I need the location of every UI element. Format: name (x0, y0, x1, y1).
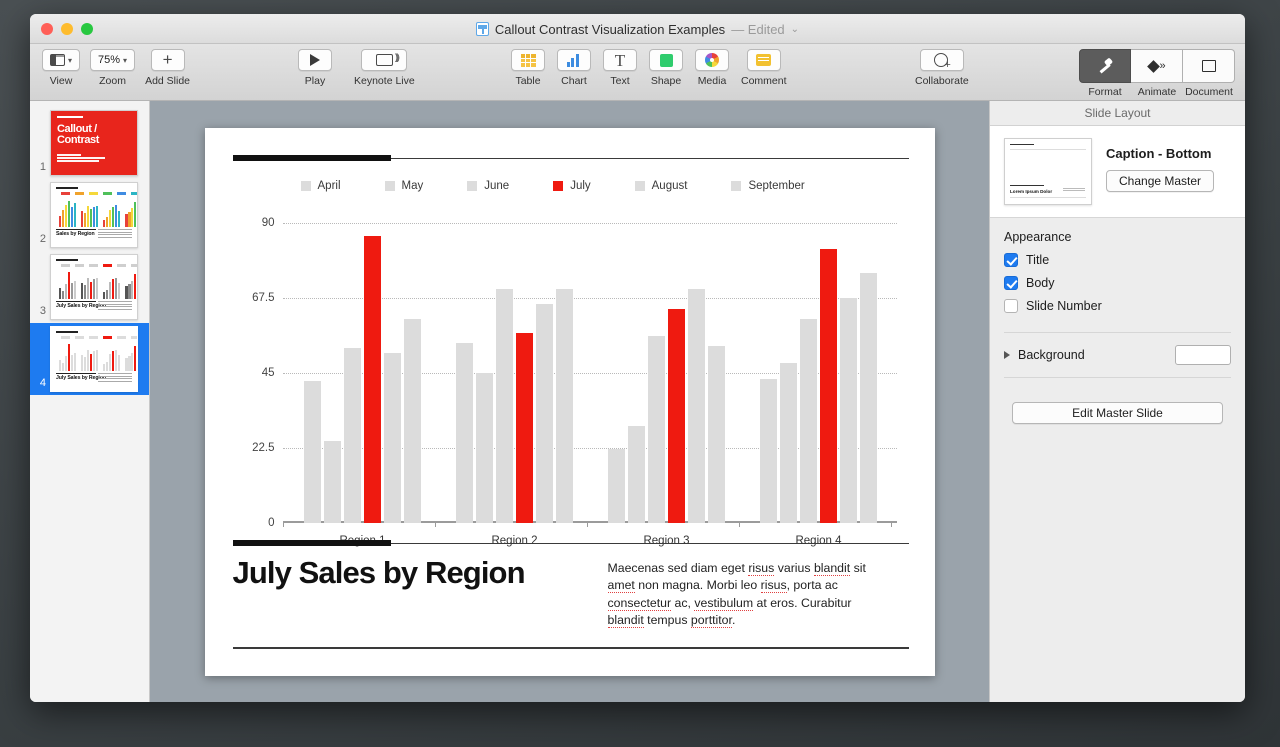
keynote-live-icon (376, 54, 393, 66)
slide-thumbnail-4[interactable]: 4 July Sales by Region (30, 323, 149, 395)
slide-thumbnail-2[interactable]: 2 Sales by Region (30, 179, 149, 251)
thumb-plot-3 (59, 271, 132, 299)
spellcheck-word: porttitor (691, 613, 732, 628)
edit-master-wrap: Edit Master Slide (1012, 402, 1223, 424)
text-icon: T (615, 53, 625, 68)
disclosure-triangle-icon[interactable] (1004, 351, 1010, 359)
tab-label-format: Format (1079, 86, 1131, 98)
toolbar-label-media: Media (698, 75, 727, 87)
chevron-down-icon[interactable]: ⌄ (791, 24, 799, 35)
document-icon (1202, 60, 1216, 72)
thumbnail-canvas-4: July Sales by Region (50, 326, 138, 392)
toolbar-label-play: Play (305, 75, 325, 87)
legend-swatch (731, 181, 741, 191)
desktop-background: Callout Contrast Visualization Examples … (0, 0, 1280, 747)
chart-region-group (591, 223, 743, 523)
x-tick-label: Region 3 (643, 535, 689, 547)
thumb-body-4 (98, 373, 132, 383)
appearance-heading: Appearance (1004, 230, 1231, 244)
chart-bar[interactable] (688, 289, 705, 522)
checkbox-row-body[interactable]: Body (1004, 276, 1231, 290)
master-slide-name: Caption - Bottom (1106, 146, 1214, 161)
master-thumb-rule (1010, 144, 1034, 145)
chart-bar[interactable] (820, 249, 837, 522)
slide-body-text[interactable]: Maecenas sed diam eget risus varius blan… (608, 560, 870, 630)
zoom-button[interactable]: 75% ▾ (90, 49, 135, 71)
master-thumb-baseline (1010, 197, 1086, 198)
axis-tick (739, 523, 740, 527)
shape-button[interactable] (649, 49, 683, 71)
chart-bar[interactable] (628, 426, 645, 523)
master-thumb-bottom-rule (1010, 185, 1044, 186)
toolbar-label-table: Table (515, 75, 540, 87)
legend-swatch (385, 181, 395, 191)
y-tick-label: 90 (237, 217, 275, 229)
axis-tick (283, 523, 284, 527)
background-color-well[interactable] (1175, 345, 1231, 365)
legend-swatch (635, 181, 645, 191)
thumb-rule (56, 187, 78, 189)
thumb-title-1: Callout /Contrast (57, 124, 99, 146)
chart-plot-area (287, 223, 895, 523)
chart-icon (567, 54, 582, 67)
master-thumb-line (1010, 149, 1086, 150)
chart-bar[interactable] (668, 309, 685, 522)
table-button[interactable] (511, 49, 545, 71)
spellcheck-word: amet (608, 578, 635, 593)
toolbar-item-keynote-live[interactable]: Keynote Live (354, 49, 415, 87)
y-tick-label: 67.5 (237, 292, 275, 304)
chart-bar[interactable] (344, 348, 361, 523)
master-slide-section: Lorem Ipsum Dolor Caption - Bottom Chang… (990, 126, 1245, 218)
legend-item-april[interactable]: April (301, 180, 341, 192)
body-text-run: Maecenas sed diam eget (608, 561, 749, 575)
play-icon (310, 54, 320, 66)
thumb-baseline (56, 301, 96, 302)
axis-tick (587, 523, 588, 527)
format-inspector: Slide Layout Lorem Ipsum Dolor Caption -… (989, 101, 1245, 702)
tab-animate[interactable]: » (1131, 49, 1183, 83)
comment-button[interactable] (747, 49, 781, 71)
toolbar-label-collaborate: Collaborate (915, 75, 969, 87)
appearance-section: Appearance Title Body Slide Number (990, 218, 1245, 326)
spellcheck-word: blandit (814, 561, 850, 576)
toolbar-play-group: Play Keynote Live (298, 49, 415, 87)
thumb-plot-2 (59, 199, 132, 227)
divider (1004, 377, 1231, 378)
toolbar-item-shape[interactable]: Shape (649, 49, 683, 87)
spellcheck-word: risus (748, 561, 774, 576)
thumb-legend-3 (61, 264, 138, 267)
toolbar-label-zoom: Zoom (99, 75, 126, 87)
chart-bar[interactable] (384, 353, 401, 523)
thumb-rule (56, 259, 78, 261)
change-master-button[interactable]: Change Master (1106, 170, 1214, 192)
y-tick-label: 22.5 (237, 442, 275, 454)
window-body: 1 Callout /Contrast 2 (30, 101, 1245, 702)
background-row[interactable]: Background (990, 339, 1245, 371)
keynote-document-icon (476, 22, 489, 36)
y-tick-label: 0 (237, 517, 275, 529)
slide-top-rule (233, 158, 909, 159)
toolbar-label-comment: Comment (741, 75, 787, 87)
chart-bar[interactable] (860, 273, 877, 523)
thumb-body-2 (98, 229, 132, 239)
toolbar-item-table[interactable]: Table (511, 49, 545, 87)
chart-bar[interactable] (516, 333, 533, 523)
thumb-rule (56, 331, 78, 333)
title-bar: Callout Contrast Visualization Examples … (30, 14, 1245, 44)
slide-thumbnail-1[interactable]: 1 Callout /Contrast (30, 107, 149, 179)
chart-bar[interactable] (800, 319, 817, 522)
legend-swatch (301, 181, 311, 191)
chart-bar[interactable] (648, 336, 665, 523)
legend-item-june[interactable]: June (467, 180, 509, 192)
body-text-run: non magna. Morbi leo (635, 578, 761, 592)
toolbar-item-text[interactable]: T Text (603, 49, 637, 87)
body-text-run: , porta ac (787, 578, 838, 592)
chart-bar[interactable] (304, 381, 321, 523)
animate-diamond-icon: » (1149, 60, 1163, 72)
background-label: Background (1018, 348, 1175, 362)
slide-canvas-area[interactable]: April May June July (150, 101, 989, 702)
body-text-run: . (732, 613, 735, 627)
slide-navigator[interactable]: 1 Callout /Contrast 2 (30, 101, 150, 702)
slide-middle-rule (233, 543, 909, 544)
toolbar-item-zoom[interactable]: 75% ▾ Zoom (90, 49, 135, 87)
chart-bar[interactable] (780, 363, 797, 523)
toolbar-label-add-slide: Add Slide (145, 75, 190, 87)
spellcheck-word: vestibulum (694, 596, 753, 611)
chart-bar[interactable] (496, 289, 513, 522)
legend-label: April (318, 180, 341, 192)
toolbar-item-collaborate[interactable]: Collaborate (915, 49, 969, 87)
text-button[interactable]: T (603, 49, 637, 71)
spellcheck-word: blandit (608, 613, 644, 628)
chart-bar[interactable] (456, 343, 473, 523)
edit-master-slide-button[interactable]: Edit Master Slide (1012, 402, 1223, 424)
chart-bar[interactable] (840, 298, 857, 523)
checkbox-label-slide-number: Slide Number (1026, 299, 1102, 313)
master-slide-thumbnail[interactable]: Lorem Ipsum Dolor (1004, 138, 1092, 205)
toolbar-label-shape: Shape (651, 75, 681, 87)
collaborate-button[interactable] (920, 49, 964, 71)
chart-bar[interactable] (608, 449, 625, 522)
axis-tick (435, 523, 436, 527)
body-text-run: tempus (644, 613, 691, 627)
legend-item-august[interactable]: August (635, 180, 688, 192)
legend-item-september[interactable]: September (731, 180, 804, 192)
toolbar-label-text: Text (610, 75, 629, 87)
body-text-run: at eros. Curabitur (753, 596, 851, 610)
slide-number-1: 1 (34, 161, 46, 176)
keynote-live-button[interactable] (361, 49, 407, 71)
plus-icon: + (163, 53, 173, 67)
checkbox-label-title: Title (1026, 253, 1049, 267)
master-thumb-title: Lorem Ipsum Dolor (1010, 189, 1052, 194)
chart-bar[interactable] (476, 373, 493, 523)
thumb-plot-4 (59, 343, 132, 371)
thumb-legend-2 (61, 192, 138, 195)
chart-legend: April May June July (301, 180, 805, 192)
tab-format[interactable] (1079, 49, 1131, 83)
slide-canvas[interactable]: April May June July (205, 128, 935, 676)
inspector-tab-labels: Format Animate Document (1079, 86, 1235, 98)
body-text-run: varius (774, 561, 814, 575)
x-tick-label: Region 4 (795, 535, 841, 547)
add-slide-button[interactable]: + (151, 49, 185, 71)
legend-label: June (484, 180, 509, 192)
play-button[interactable] (298, 49, 332, 71)
thumb-baseline (56, 373, 96, 374)
toolbar-label-keynote-live: Keynote Live (354, 75, 415, 87)
chart-button[interactable] (557, 49, 591, 71)
checkbox-slide-number[interactable] (1004, 299, 1018, 313)
master-thumb-body (1063, 188, 1085, 192)
toolbar-item-view[interactable]: ▾ View (42, 49, 80, 87)
zoom-level-value: 75% (98, 54, 120, 66)
chart-region-group (743, 223, 895, 523)
checkbox-row-slide-number[interactable]: Slide Number (1004, 299, 1231, 313)
chevron-down-icon: ▾ (123, 56, 127, 65)
edited-status: — Edited (731, 22, 784, 37)
table-icon (521, 54, 536, 67)
checkbox-title[interactable] (1004, 253, 1018, 267)
spellcheck-word: risus (761, 578, 787, 593)
legend-label: August (652, 180, 688, 192)
window-title: Callout Contrast Visualization Examples … (30, 14, 1245, 44)
legend-label: September (748, 180, 804, 192)
legend-swatch-highlight (553, 181, 563, 191)
toolbar-item-add-slide[interactable]: + Add Slide (145, 49, 190, 87)
toolbar-item-play[interactable]: Play (298, 49, 332, 87)
chevron-down-icon: ▾ (68, 56, 72, 65)
inspector-panel-title: Slide Layout (990, 101, 1245, 126)
thumb-body-3 (98, 301, 132, 311)
toolbar-item-comment[interactable]: Comment (741, 49, 787, 87)
checkbox-label-body: Body (1026, 276, 1055, 290)
toolbar-label-chart: Chart (561, 75, 587, 87)
legend-swatch (467, 181, 477, 191)
media-icon (705, 53, 719, 67)
y-tick-label: 45 (237, 367, 275, 379)
format-brush-icon (1097, 58, 1113, 74)
slide-title[interactable]: July Sales by Region (233, 556, 633, 590)
chart-region-group (439, 223, 591, 523)
slide-thumbnail-3[interactable]: 3 July Sales by Region (30, 251, 149, 323)
tab-label-animate: Animate (1131, 86, 1183, 98)
view-panes-icon (50, 54, 65, 66)
chart-bar[interactable] (536, 304, 553, 522)
chart-bar[interactable] (404, 319, 421, 522)
axis-tick (891, 523, 892, 527)
collaborate-icon (934, 53, 950, 67)
legend-item-july[interactable]: July (553, 180, 590, 192)
slide-bottom-rule (233, 647, 909, 648)
toolbar-collaborate-group: Collaborate (915, 49, 969, 87)
legend-label: May (402, 180, 424, 192)
legend-item-may[interactable]: May (385, 180, 424, 192)
bar-chart[interactable]: 022.54567.590 Region 1Region 2Region 3Re… (237, 223, 905, 523)
toolbar-item-chart[interactable]: Chart (557, 49, 591, 87)
thumb-legend-4 (61, 336, 138, 339)
comment-icon (756, 54, 771, 66)
thumb-rule (57, 116, 83, 118)
tab-label-document: Document (1183, 86, 1235, 98)
toolbar-insert-group: Table Chart T Text Shape (511, 49, 787, 87)
thumb-title-2: Sales by Region (56, 231, 95, 237)
toolbar-item-media[interactable]: Media (695, 49, 729, 87)
toolbar-left-group: ▾ View 75% ▾ Zoom + Add Slide (42, 49, 190, 87)
body-text-run: sit (850, 561, 866, 575)
body-text-run: ac, (671, 596, 694, 610)
inspector-tabs: » (1079, 49, 1235, 83)
x-tick-label: Region 2 (491, 535, 537, 547)
slide-number-4: 4 (34, 377, 46, 392)
master-slide-info: Caption - Bottom Change Master (1106, 138, 1214, 192)
media-button[interactable] (695, 49, 729, 71)
chart-bar[interactable] (364, 236, 381, 523)
thumbnail-canvas-3: July Sales by Region (50, 254, 138, 320)
thumbnail-canvas-2: Sales by Region (50, 182, 138, 248)
document-title: Callout Contrast Visualization Examples (495, 22, 725, 37)
chart-bar[interactable] (708, 346, 725, 523)
keynote-window: Callout Contrast Visualization Examples … (30, 14, 1245, 702)
thumb-subtitle-1 (57, 154, 113, 164)
legend-label: July (570, 180, 590, 192)
divider (1004, 332, 1231, 333)
slide-number-3: 3 (34, 305, 46, 320)
slide-number-2: 2 (34, 233, 46, 248)
checkbox-body[interactable] (1004, 276, 1018, 290)
thumbnail-canvas-1: Callout /Contrast (50, 110, 138, 176)
chart-bar[interactable] (556, 289, 573, 522)
chart-bar[interactable] (760, 379, 777, 522)
view-button[interactable]: ▾ (42, 49, 80, 71)
tab-document[interactable] (1183, 49, 1235, 83)
toolbar-label-view: View (50, 75, 73, 87)
toolbar: ▾ View 75% ▾ Zoom + Add Slide (30, 44, 1245, 101)
spellcheck-word: consectetur (608, 596, 672, 611)
chart-region-group (287, 223, 439, 523)
thumb-baseline (56, 229, 96, 230)
checkbox-row-title[interactable]: Title (1004, 253, 1231, 267)
shape-icon (660, 54, 673, 67)
chart-bar[interactable] (324, 441, 341, 523)
